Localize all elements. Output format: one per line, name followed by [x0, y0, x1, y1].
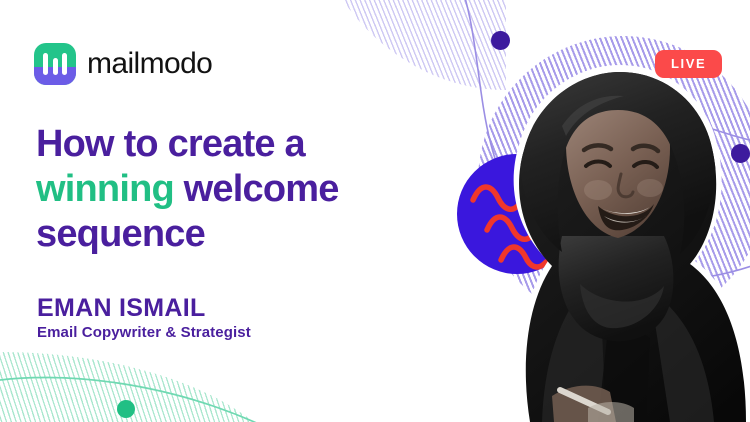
speaker-title: Email Copywriter & Strategist	[37, 324, 251, 341]
webinar-promo-banner: mailmodo How to create a winning welcome…	[0, 0, 750, 422]
live-badge: LIVE	[655, 50, 722, 78]
brand-logo[interactable]: mailmodo	[34, 43, 212, 85]
headline-line-2-rest: welcome	[174, 168, 339, 210]
speaker-name: EMAN ISMAIL	[37, 294, 206, 323]
mailmodo-logo-icon	[34, 43, 76, 85]
logo-bar-3	[62, 53, 67, 75]
logo-bar-1	[43, 53, 48, 75]
green-arc-icon	[0, 377, 300, 422]
green-dot-bottom-icon	[117, 400, 135, 418]
headline-line-1: How to create a	[36, 123, 305, 165]
striped-green-wedge-decoration	[0, 352, 300, 422]
page-title: How to create a winning welcome sequence	[36, 122, 436, 257]
speaker-portrait	[402, 40, 750, 422]
logo-bar-2	[53, 58, 58, 75]
headline-line-3: sequence	[36, 213, 205, 255]
brand-wordmark: mailmodo	[87, 47, 212, 81]
headline-accent-word: winning	[36, 168, 174, 210]
portrait-image	[402, 40, 750, 422]
